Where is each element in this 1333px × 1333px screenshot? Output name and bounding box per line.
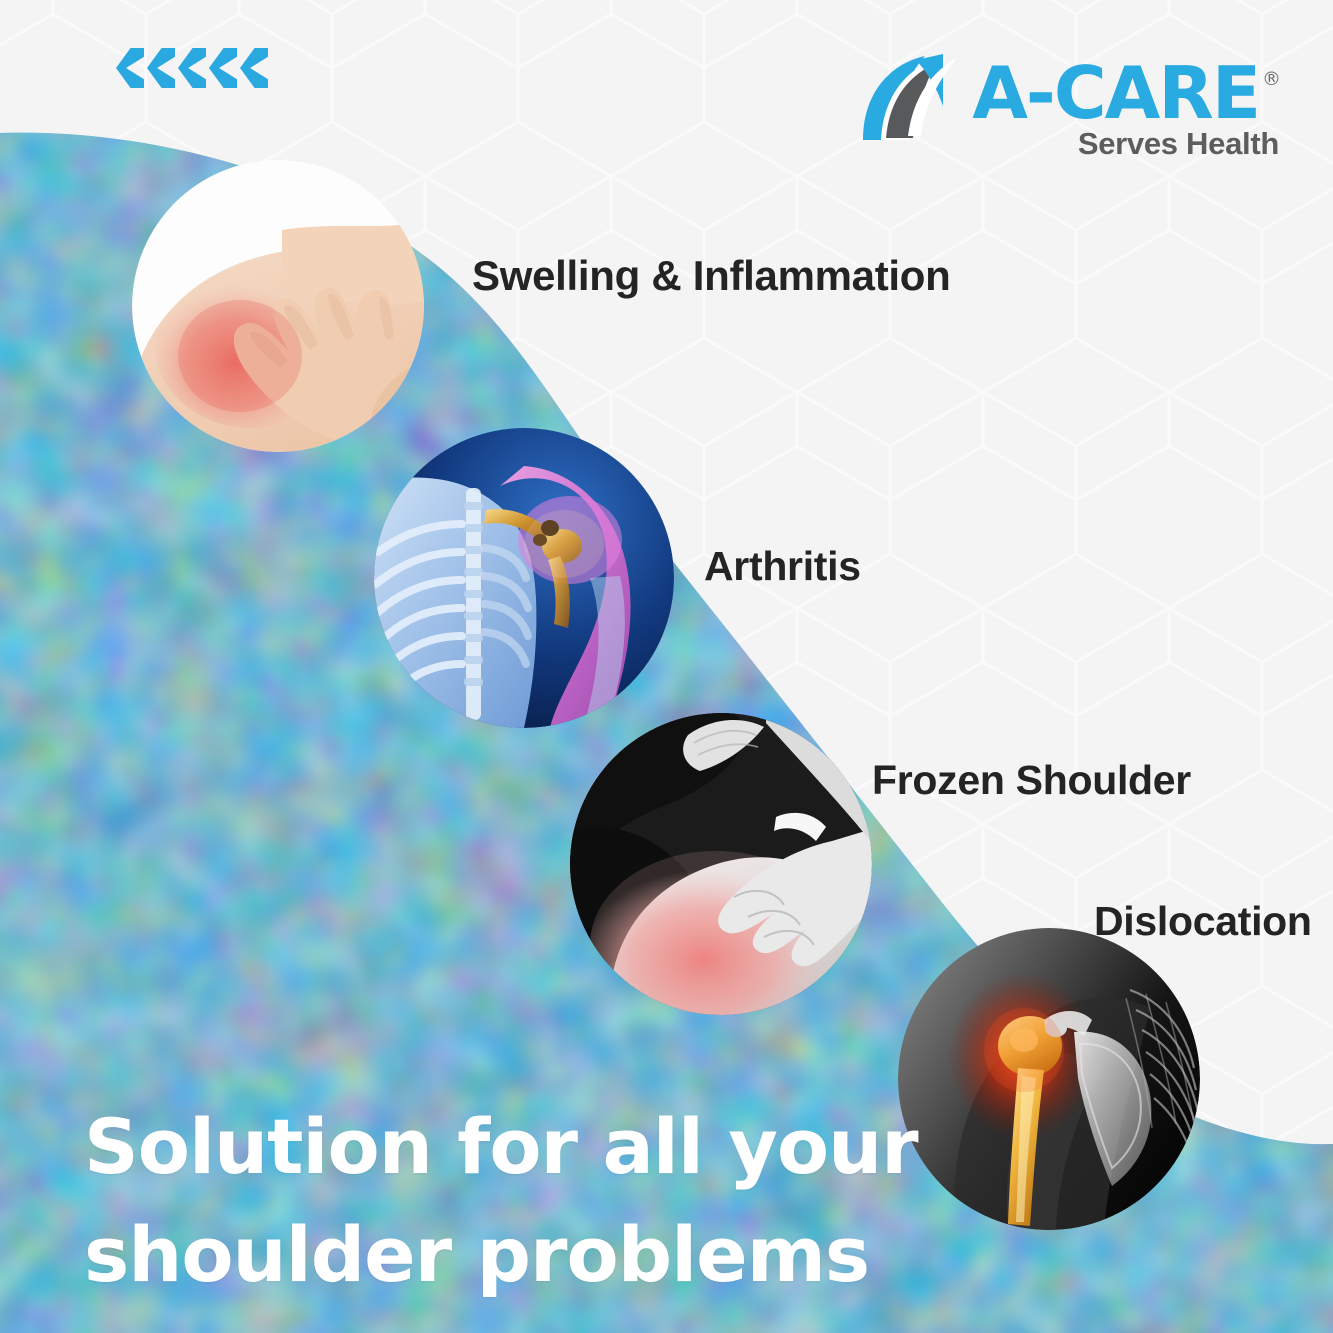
registered-trademark-icon: ® xyxy=(1262,68,1281,90)
brand-logo: A - CARE ® Serves Health xyxy=(859,50,1281,162)
logo-tagline: Serves Health xyxy=(1078,126,1279,162)
condition-label-swelling-inflammation: Swelling & Inflammation xyxy=(472,252,950,300)
chevron-left-icon xyxy=(116,48,144,88)
logo-name-separator: - xyxy=(1026,64,1054,123)
poster-canvas: A - CARE ® Serves Health xyxy=(0,0,1333,1333)
condition-label-arthritis: Arthritis xyxy=(704,543,861,590)
condition-label-dislocation: Dislocation xyxy=(1094,898,1312,945)
swoosh-arc-logo-icon xyxy=(859,50,964,142)
chevron-left-icon xyxy=(147,48,175,88)
condition-image-swelling-inflammation xyxy=(132,160,424,452)
condition-image-arthritis xyxy=(374,428,674,728)
condition-image-dislocation xyxy=(898,928,1200,1230)
page-headline: Solution for all your shoulder problems xyxy=(84,1093,918,1309)
headline-line-1: Solution for all your xyxy=(84,1093,918,1201)
condition-image-frozen-shoulder xyxy=(570,713,872,1015)
headline-line-2: shoulder problems xyxy=(84,1201,918,1309)
chevron-left-icon xyxy=(178,48,206,88)
chevron-left-icon xyxy=(240,48,268,88)
chevron-decoration-group xyxy=(116,48,268,88)
logo-name-a: A xyxy=(972,64,1026,123)
logo-wordmark: A - CARE ® Serves Health xyxy=(972,50,1281,162)
condition-label-frozen-shoulder: Frozen Shoulder xyxy=(872,757,1191,804)
chevron-left-icon xyxy=(209,48,237,88)
logo-name-care: CARE xyxy=(1054,64,1259,123)
